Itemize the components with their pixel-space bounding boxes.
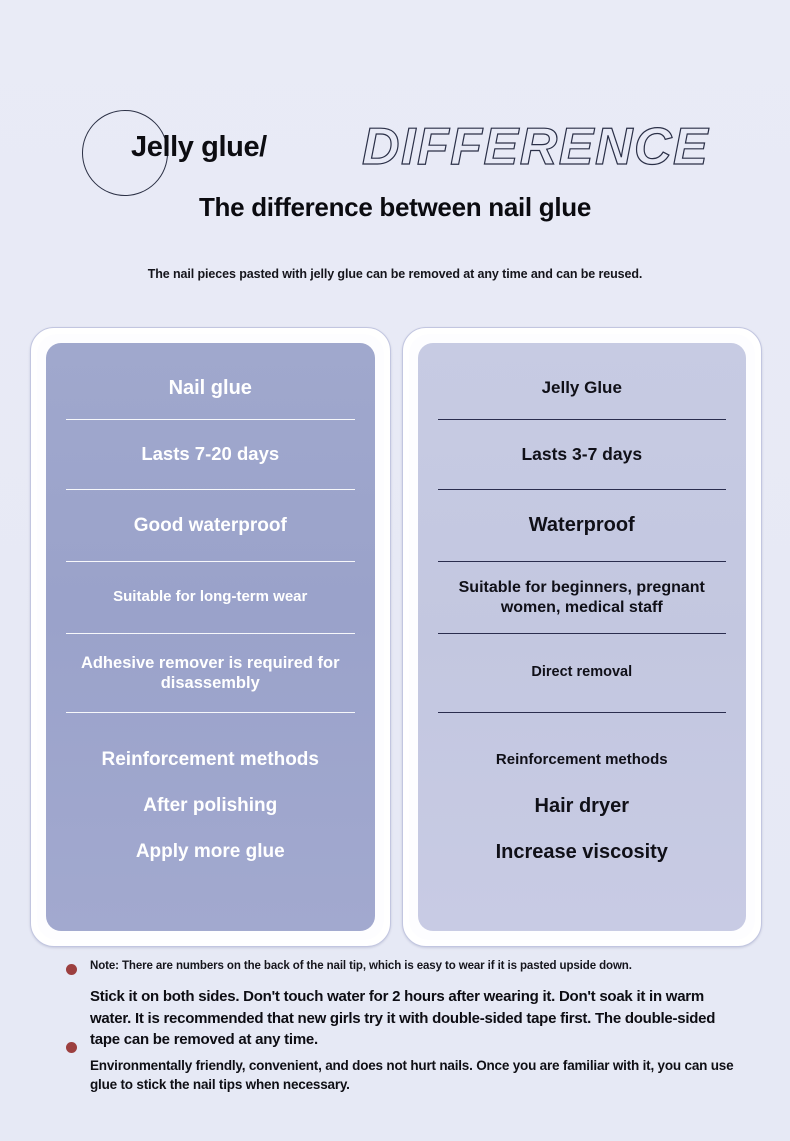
row-label: Suitable for beginners, pregnant women, … bbox=[440, 578, 725, 617]
table-row: Lasts 3-7 days bbox=[436, 420, 729, 489]
nail-glue-card: Nail glue Lasts 7-20 days Good waterproo… bbox=[46, 343, 375, 931]
row-divider bbox=[438, 712, 727, 713]
note-item: Environmentally friendly, convenient, an… bbox=[0, 1056, 790, 1094]
nail-glue-reinforcement: Reinforcement methods After polishing Ap… bbox=[64, 737, 357, 875]
note-text: Environmentally friendly, convenient, an… bbox=[90, 1056, 750, 1094]
note-text: Note: There are numbers on the back of t… bbox=[90, 958, 735, 975]
row-label: Nail glue bbox=[68, 376, 353, 400]
table-row: Lasts 7-20 days bbox=[64, 420, 357, 489]
row-label: Direct removal bbox=[440, 664, 725, 682]
table-row: Direct removal bbox=[436, 634, 729, 712]
row-label: Lasts 7-20 days bbox=[68, 443, 353, 466]
bullet-dot-icon bbox=[66, 964, 77, 975]
table-row: Jelly Glue bbox=[436, 357, 729, 419]
row-label: Lasts 3-7 days bbox=[440, 444, 725, 465]
note-item: Note: There are numbers on the back of t… bbox=[0, 958, 790, 975]
reinforcement-item: Apply more glue bbox=[64, 829, 357, 875]
reinforcement-item: Increase viscosity bbox=[436, 829, 729, 875]
comparison-cards: Nail glue Lasts 7-20 days Good waterproo… bbox=[30, 327, 762, 947]
reinforcement-item: Hair dryer bbox=[436, 783, 729, 829]
nail-glue-rows: Nail glue Lasts 7-20 days Good waterproo… bbox=[64, 357, 357, 713]
reinforcement-heading: Reinforcement methods bbox=[436, 737, 729, 783]
jelly-glue-card: Jelly Glue Lasts 3-7 days Waterproof Sui… bbox=[418, 343, 747, 931]
jelly-glue-reinforcement: Reinforcement methods Hair dryer Increas… bbox=[436, 737, 729, 875]
nail-glue-card-ring: Nail glue Lasts 7-20 days Good waterproo… bbox=[37, 334, 384, 940]
table-row: Adhesive remover is required for disasse… bbox=[64, 634, 357, 712]
page-subtitle: The difference between nail glue bbox=[0, 192, 790, 223]
table-row: Good waterproof bbox=[64, 490, 357, 561]
row-label: Adhesive remover is required for disasse… bbox=[68, 653, 353, 693]
notes-section: Note: There are numbers on the back of t… bbox=[0, 958, 790, 1094]
row-label: Jelly Glue bbox=[440, 378, 725, 399]
nail-glue-card-frame: Nail glue Lasts 7-20 days Good waterproo… bbox=[30, 327, 391, 947]
table-row: Suitable for long-term wear bbox=[64, 562, 357, 633]
jelly-glue-card-ring: Jelly Glue Lasts 3-7 days Waterproof Sui… bbox=[409, 334, 756, 940]
brand-title: Jelly glue/ bbox=[131, 124, 267, 170]
table-row: Nail glue bbox=[64, 357, 357, 419]
note-text: Stick it on both sides. Don't touch wate… bbox=[90, 986, 735, 1051]
row-label: Suitable for long-term wear bbox=[68, 588, 353, 606]
row-label: Waterproof bbox=[440, 513, 725, 537]
page-tagline: The nail pieces pasted with jelly glue c… bbox=[0, 267, 790, 281]
jelly-glue-card-frame: Jelly Glue Lasts 3-7 days Waterproof Sui… bbox=[402, 327, 763, 947]
title-row: Jelly glue/ DIFFERENCE bbox=[0, 124, 790, 186]
row-label: Good waterproof bbox=[68, 514, 353, 537]
bullet-dot-icon bbox=[66, 1042, 77, 1053]
infographic-page: Jelly glue/ DIFFERENCE The difference be… bbox=[0, 0, 790, 1141]
jelly-glue-rows: Jelly Glue Lasts 3-7 days Waterproof Sui… bbox=[436, 357, 729, 713]
note-item: Stick it on both sides. Don't touch wate… bbox=[0, 986, 790, 1051]
row-divider bbox=[66, 712, 355, 713]
table-row: Suitable for beginners, pregnant women, … bbox=[436, 562, 729, 633]
table-row: Waterproof bbox=[436, 490, 729, 561]
difference-outline-title: DIFFERENCE bbox=[362, 116, 709, 178]
reinforcement-item: After polishing bbox=[64, 783, 357, 829]
header: Jelly glue/ DIFFERENCE The difference be… bbox=[0, 0, 790, 300]
reinforcement-heading: Reinforcement methods bbox=[64, 737, 357, 783]
